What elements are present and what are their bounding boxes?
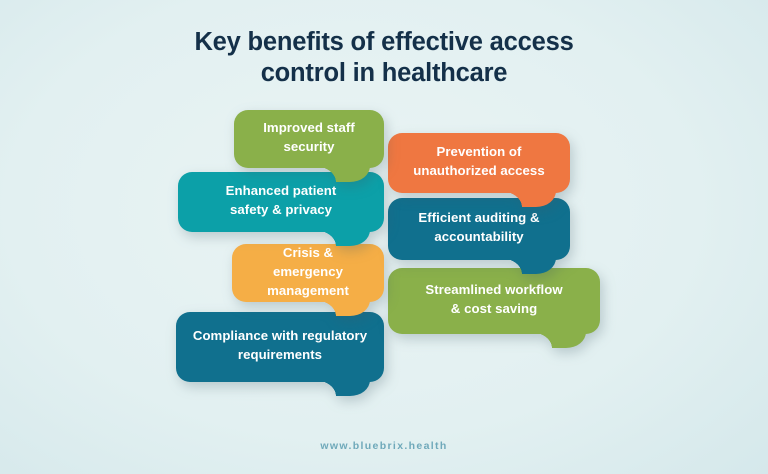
footer-website-url: www.bluebrix.health xyxy=(0,440,768,452)
benefit-label-line-1: Improved staff xyxy=(263,120,355,135)
benefit-bubble-prevention-unauthorized-access: Prevention of unauthorized access xyxy=(388,133,570,193)
benefit-label-line-1: Crisis & emergency xyxy=(273,245,343,279)
benefit-label-line-1: Prevention of xyxy=(437,144,522,159)
page-title: Key benefits of effective access control… xyxy=(0,27,768,89)
benefit-label-line-2: accountability xyxy=(434,229,523,244)
benefit-label-line-1: Enhanced patient xyxy=(226,183,337,198)
benefit-label: Efficient auditing & accountability xyxy=(418,208,539,246)
infographic-canvas: Key benefits of effective access control… xyxy=(0,0,768,474)
benefit-label-line-1: Compliance with regulatory xyxy=(193,328,367,343)
benefit-label: Enhanced patient safety & privacy xyxy=(226,181,337,219)
benefit-bubble-streamlined-workflow: Streamlined workflow & cost saving xyxy=(388,268,600,334)
benefit-label-line-1: Efficient auditing & xyxy=(418,210,539,225)
benefit-label: Crisis & emergency management xyxy=(246,243,370,300)
benefit-label: Improved staff security xyxy=(263,118,355,156)
benefit-bubble-improved-staff-security: Improved staff security xyxy=(234,110,384,168)
benefit-label-line-2: & cost saving xyxy=(451,301,537,316)
benefit-label-line-2: security xyxy=(284,139,335,154)
page-title-line-1: Key benefits of effective access xyxy=(0,27,768,58)
benefit-bubble-efficient-auditing: Efficient auditing & accountability xyxy=(388,198,570,260)
benefit-label: Streamlined workflow & cost saving xyxy=(425,280,562,318)
benefit-label-line-2: safety & privacy xyxy=(230,202,332,217)
benefit-label-line-2: requirements xyxy=(238,347,322,362)
benefit-bubble-compliance-regulatory: Compliance with regulatory requirements xyxy=(176,312,384,382)
benefit-label-line-2: management xyxy=(267,283,349,298)
benefit-bubble-crisis-emergency-management: Crisis & emergency management xyxy=(232,244,384,302)
benefit-label: Prevention of unauthorized access xyxy=(413,142,544,180)
benefit-label-line-2: unauthorized access xyxy=(413,163,544,178)
benefit-label: Compliance with regulatory requirements xyxy=(193,326,367,364)
benefit-label-line-1: Streamlined workflow xyxy=(425,282,562,297)
page-title-line-2: control in healthcare xyxy=(0,58,768,89)
